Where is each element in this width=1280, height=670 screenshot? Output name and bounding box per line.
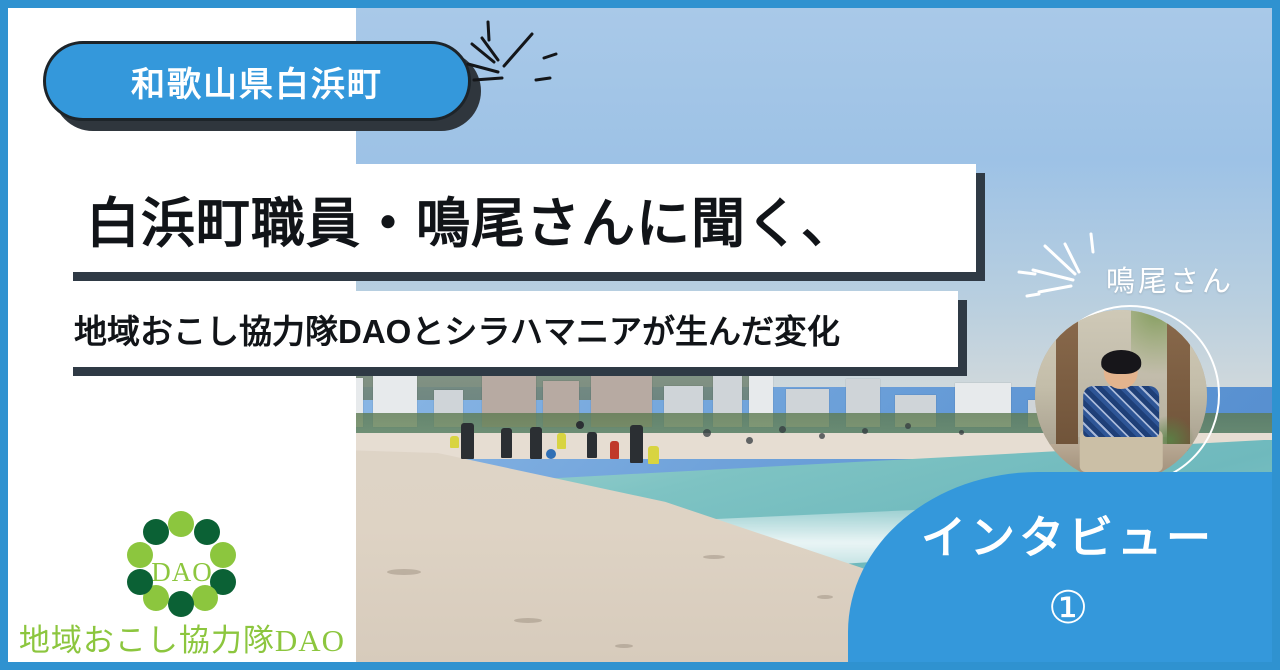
dao-dot: [127, 569, 153, 595]
dao-dot: [210, 542, 236, 568]
dao-acronym: DAO: [151, 557, 213, 588]
location-pill-body: 和歌山県白浜町: [43, 41, 471, 121]
dao-dot: [194, 519, 220, 545]
dao-dot: [143, 519, 169, 545]
portrait-label: 鳴尾さん: [1106, 258, 1234, 300]
dao-dot: [127, 542, 153, 568]
title-main-box: 白浜町職員・鳴尾さんに聞く、: [64, 164, 976, 272]
dao-dot: [168, 511, 194, 537]
sparkle-black-icon: [460, 16, 570, 116]
poster-canvas: 和歌山県白浜町 白浜町職員・鳴尾さんに聞く、 地域おこし協力隊DAOとシラハマニ…: [0, 0, 1280, 670]
interview-badge-label: インタビュー: [898, 501, 1238, 566]
location-pill[interactable]: 和歌山県白浜町: [43, 41, 481, 131]
dao-ring-icon: DAO: [126, 511, 238, 611]
page-subtitle: 地域おこし協力隊DAOとシラハマニアが生んだ変化: [64, 305, 840, 353]
page-title: 白浜町職員・鳴尾さんに聞く、: [64, 179, 856, 258]
dao-caption: 地域おこし協力隊DAO: [8, 615, 356, 660]
interview-badge-number: ①: [898, 581, 1238, 634]
dao-logo: DAO 地域おこし協力隊DAO: [8, 497, 356, 662]
dao-dot: [168, 591, 194, 617]
title-sub-box: 地域おこし協力隊DAOとシラハマニアが生んだ変化: [64, 291, 958, 367]
dao-dot: [192, 585, 218, 611]
location-pill-label: 和歌山県白浜町: [131, 57, 383, 106]
poster-stage: 和歌山県白浜町 白浜町職員・鳴尾さんに聞く、 地域おこし協力隊DAOとシラハマニ…: [8, 8, 1272, 662]
avatar: [1035, 310, 1207, 482]
